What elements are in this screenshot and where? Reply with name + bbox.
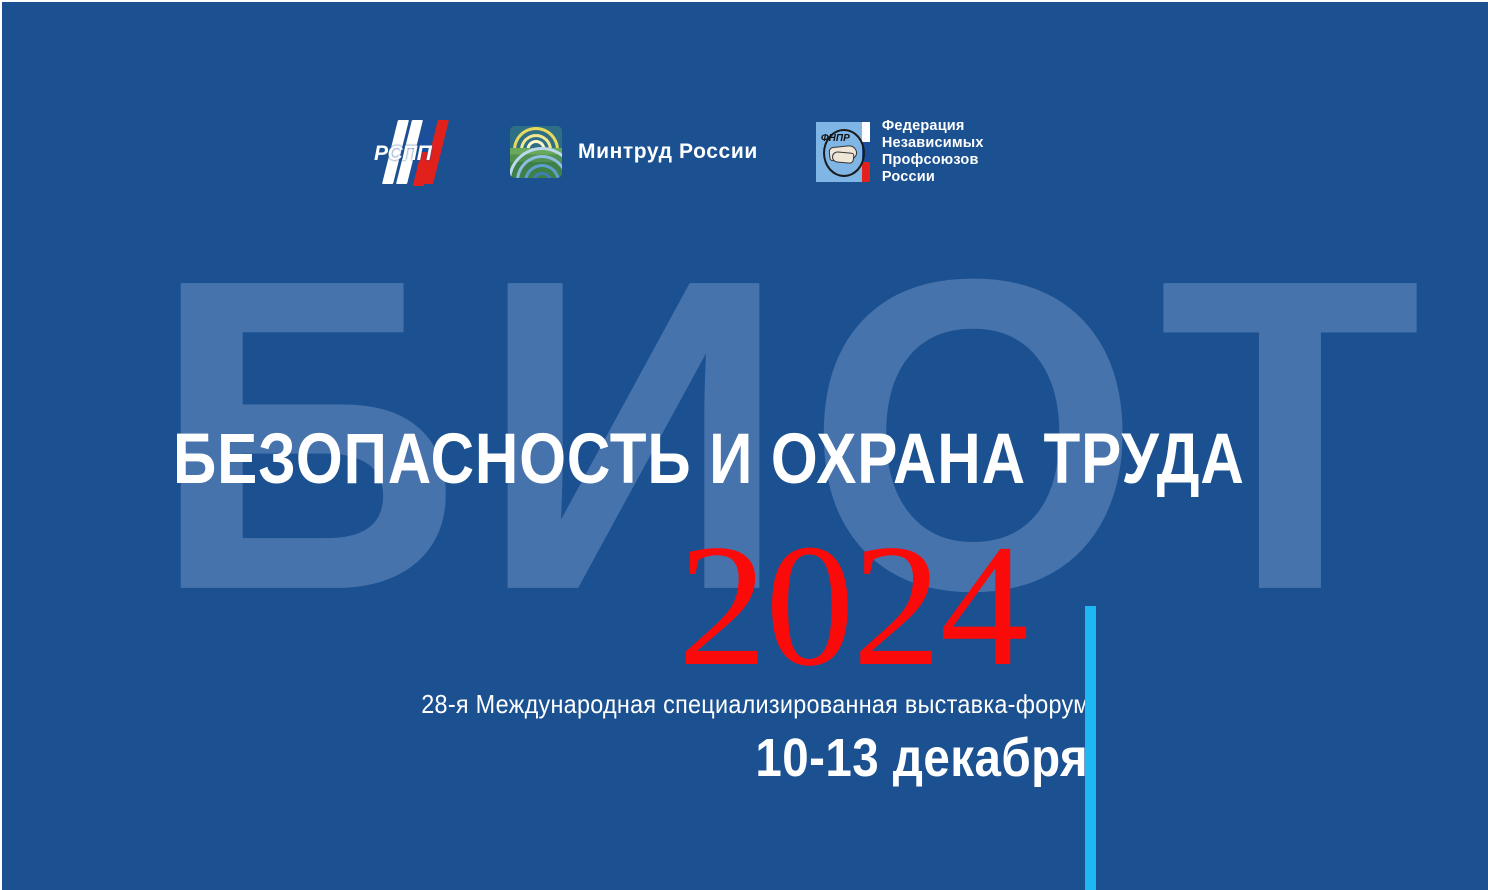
rspp-logo: РСПП xyxy=(372,116,510,188)
fnpr-name-block: Федерация Независимых Профсоюзов России xyxy=(882,118,984,186)
mintrud-water-group xyxy=(510,146,562,178)
poster-canvas: БИОТ РСПП xyxy=(0,0,1488,890)
mintrud-logo: Минтруд России xyxy=(510,126,758,178)
fnpr-abbr-label: ФНПР xyxy=(821,133,850,144)
event-year: 2024 xyxy=(678,518,1027,693)
event-subtitle: 28-я Международная специализированная вы… xyxy=(422,690,1090,718)
mintrud-emblem-icon xyxy=(510,126,562,178)
handshake-icon-lower xyxy=(831,151,854,164)
fnpr-name-line-4: России xyxy=(882,169,984,186)
fnpr-emblem-icon: ФНПР xyxy=(816,122,870,182)
mintrud-label: Минтруд России xyxy=(578,140,758,164)
rspp-abbr-label: РСПП xyxy=(374,142,431,166)
fnpr-logo: ФНПР Федерация Независимых Профсоюзов Ро… xyxy=(816,118,984,186)
page-title: БЕЗОПАСНОСТЬ И ОХРАНА ТРУДА xyxy=(173,423,1245,494)
event-dates: 10-13 декабря xyxy=(755,729,1088,787)
fnpr-name-line-3: Профсоюзов xyxy=(882,152,984,169)
accent-bar xyxy=(1085,606,1096,890)
fnpr-name-line-2: Независимых xyxy=(882,135,984,152)
fnpr-name-line-1: Федерация xyxy=(882,118,984,135)
partner-logos-strip: РСПП Минтруд России xyxy=(372,112,984,192)
rspp-emblem: РСПП xyxy=(372,116,444,188)
